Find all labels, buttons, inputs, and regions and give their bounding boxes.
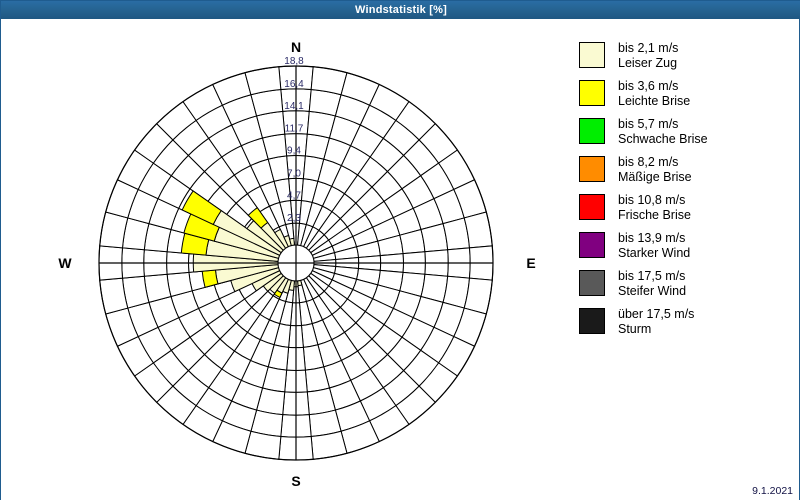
legend-speed-range: bis 3,6 m/s (618, 79, 690, 94)
radial-tick-label: 11,7 (285, 124, 304, 135)
petal-segment (202, 270, 218, 287)
legend-beaufort-name: Schwache Brise (618, 132, 708, 147)
legend-label-bis-17-5: bis 17,5 m/sSteifer Wind (618, 269, 686, 299)
legend-label-bis-2-1: bis 2,1 m/sLeiser Zug (618, 41, 678, 71)
legend-speed-range: bis 17,5 m/s (618, 269, 686, 284)
legend-label-bis-13-9: bis 13,9 m/sStarker Wind (618, 231, 690, 261)
legend-swatch-bis-13-9 (579, 232, 605, 258)
cardinal-label-west: W (58, 255, 72, 271)
legend-item-bis-5-7[interactable]: bis 5,7 m/sSchwache Brise (579, 117, 794, 147)
legend-speed-range: bis 8,2 m/s (618, 155, 692, 170)
legend-label-ueber-17-5: über 17,5 m/sSturm (618, 307, 694, 337)
legend-swatch-ueber-17-5 (579, 308, 605, 334)
radial-tick-label: 14,1 (284, 101, 304, 112)
cardinal-label-south: S (291, 473, 300, 489)
radial-tick-label: 4,7 (287, 190, 301, 201)
legend-swatch-bis-17-5 (579, 270, 605, 296)
legend-label-bis-10-8: bis 10,8 m/sFrische Brise (618, 193, 691, 223)
legend-beaufort-name: Steifer Wind (618, 284, 686, 299)
legend-item-bis-2-1[interactable]: bis 2,1 m/sLeiser Zug (579, 41, 794, 71)
legend-item-bis-17-5[interactable]: bis 17,5 m/sSteifer Wind (579, 269, 794, 299)
legend: bis 2,1 m/sLeiser Zugbis 3,6 m/sLeichte … (579, 41, 794, 345)
legend-speed-range: bis 10,8 m/s (618, 193, 691, 208)
legend-beaufort-name: Leichte Brise (618, 94, 690, 109)
legend-item-bis-8-2[interactable]: bis 8,2 m/sMäßige Brise (579, 155, 794, 185)
cardinal-label-east: E (526, 255, 535, 271)
legend-speed-range: bis 5,7 m/s (618, 117, 708, 132)
legend-item-bis-10-8[interactable]: bis 10,8 m/sFrische Brise (579, 193, 794, 223)
legend-swatch-bis-2-1 (579, 42, 605, 68)
legend-speed-range: bis 2,1 m/s (618, 41, 678, 56)
legend-swatch-bis-5-7 (579, 118, 605, 144)
legend-label-bis-8-2: bis 8,2 m/sMäßige Brise (618, 155, 692, 185)
legend-item-bis-3-6[interactable]: bis 3,6 m/sLeichte Brise (579, 79, 794, 109)
legend-swatch-bis-3-6 (579, 80, 605, 106)
legend-swatch-bis-8-2 (579, 156, 605, 182)
legend-speed-range: über 17,5 m/s (618, 307, 694, 322)
legend-beaufort-name: Starker Wind (618, 246, 690, 261)
radial-tick-label: 2,3 (287, 213, 301, 224)
legend-beaufort-name: Mäßige Brise (618, 170, 692, 185)
legend-label-bis-5-7: bis 5,7 m/sSchwache Brise (618, 117, 708, 147)
legend-swatch-bis-10-8 (579, 194, 605, 220)
legend-item-bis-13-9[interactable]: bis 13,9 m/sStarker Wind (579, 231, 794, 261)
cardinal-label-north: N (291, 39, 301, 55)
legend-beaufort-name: Leiser Zug (618, 56, 678, 71)
legend-item-ueber-17-5[interactable]: über 17,5 m/sSturm (579, 307, 794, 337)
radial-tick-label: 18,8 (284, 56, 304, 67)
window-titlebar: Windstatistik [%] (1, 1, 800, 19)
legend-beaufort-name: Sturm (618, 322, 694, 337)
radial-tick-label: 9,4 (287, 146, 301, 157)
date-stamp: 9.1.2021 (752, 485, 793, 497)
window-title: Windstatistik [%] (355, 4, 447, 16)
legend-label-bis-3-6: bis 3,6 m/sLeichte Brise (618, 79, 690, 109)
windstatistik-window: Windstatistik [%] 2,34,77,09,411,714,116… (0, 0, 800, 500)
legend-beaufort-name: Frische Brise (618, 208, 691, 223)
radial-tick-label: 16,4 (284, 79, 304, 90)
radial-tick-label: 7,0 (287, 168, 301, 179)
legend-speed-range: bis 13,9 m/s (618, 231, 690, 246)
